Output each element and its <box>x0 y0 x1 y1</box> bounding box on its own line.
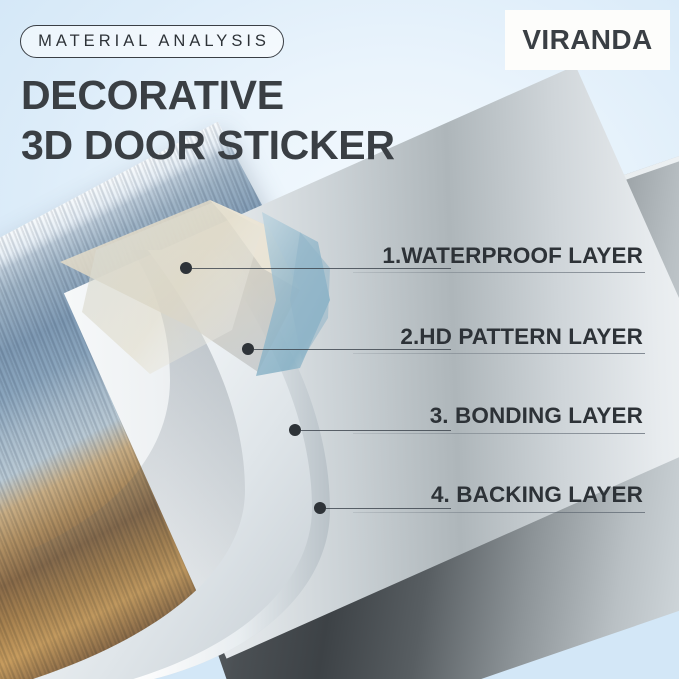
callout-label-2: 2.HD PATTERN LAYER <box>400 324 643 350</box>
callout-dot-4 <box>314 502 326 514</box>
callout-rule-2 <box>353 353 645 354</box>
callout-label-4: 4. BACKING LAYER <box>431 482 643 508</box>
callout-leader-4 <box>326 508 451 509</box>
callout-rule-4 <box>353 512 645 513</box>
material-analysis-infographic: MATERIAL ANALYSIS DECORATIVE 3D DOOR STI… <box>0 0 679 679</box>
callout-label-1: 1.WATERPROOF LAYER <box>382 243 643 269</box>
callout-dot-1 <box>180 262 192 274</box>
callout-rule-1 <box>353 272 645 273</box>
callout-leader-3 <box>301 430 451 431</box>
callout-label-3: 3. BONDING LAYER <box>430 403 643 429</box>
callout-dot-3 <box>289 424 301 436</box>
callout-group: 1.WATERPROOF LAYER 2.HD PATTERN LAYER 3.… <box>0 0 679 679</box>
callout-dot-2 <box>242 343 254 355</box>
callout-rule-3 <box>353 433 645 434</box>
